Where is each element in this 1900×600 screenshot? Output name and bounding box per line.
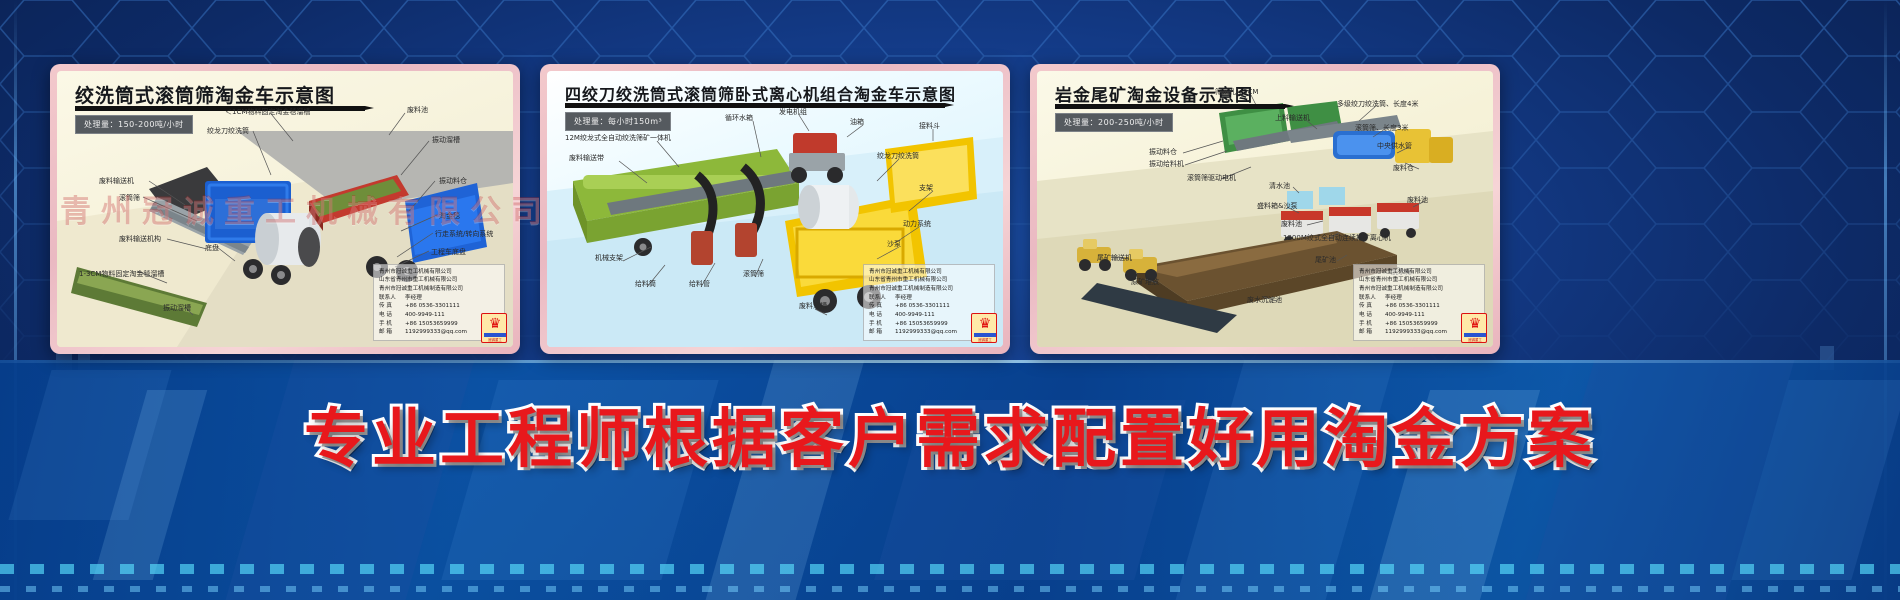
contact-tel: 400-9949-111: [405, 312, 445, 318]
panel-3-label: 废料仓: [1393, 163, 1414, 173]
contact-email: 1192999333@qq.com: [405, 329, 467, 335]
panel-2-label: 给料筒: [635, 279, 656, 289]
panel-2-label: 绞龙刀绞洗筒: [877, 151, 919, 161]
panel-1-label: 淘金毯: [439, 211, 460, 221]
panel-2-label: 动力系统: [903, 219, 931, 229]
panel-2-label: 支架: [919, 183, 933, 193]
panel-1-label: 废料输送机构: [119, 234, 161, 244]
contact-tel: 400-9949-111: [1385, 312, 1425, 318]
tick-strip-2: [0, 586, 1900, 592]
contact-mobile: +86 15053659999: [405, 321, 458, 327]
panel-1-label: 滚筒筛: [119, 193, 140, 203]
panel-2-rule: [565, 103, 945, 108]
panel-3-label: 废水沉淀池: [1247, 295, 1282, 305]
panel-1-rule: [75, 106, 365, 111]
panel-1-label: 工程车底盘: [431, 247, 466, 257]
panel-2-label: 废料溜槽: [799, 301, 827, 311]
panel-3-capacity-badge: 处理量：200-250吨/小时: [1055, 113, 1173, 132]
contact-fax: +86 0536-3301111: [895, 303, 950, 309]
contact-person-label: 联系人: [379, 294, 405, 303]
panel-3-label: 多级绞刀绞洗筒、长度4米: [1337, 99, 1418, 109]
diagram-panel-2[interactable]: 四绞刀绞洗筒式滚筒筛卧式离心机组合淘金车示意图 处理量：每小时150m³ 发电机…: [540, 64, 1010, 354]
panel-2-label: 给料管: [689, 279, 710, 289]
contact-person: 李经理: [895, 295, 912, 301]
contact-company3: 青州市冠诚重工机械制造有限公司: [1359, 285, 1479, 294]
contact-mobile-label: 手 机: [869, 320, 895, 329]
band-divider: [0, 360, 1900, 363]
panel-2-label: 机械支架: [595, 253, 623, 263]
panel-2-label: 废料输送带: [569, 153, 604, 163]
panel-1-label: 振动溜槽: [432, 135, 460, 145]
company-seal-icon: ♛冠诚重工: [1461, 313, 1487, 343]
contact-company: 青州市冠诚重工机械有限公司: [1359, 268, 1479, 277]
panel-3-label: 原矿堆放: [1131, 277, 1159, 287]
panel-3-label: 筛网孔径3CM: [1215, 87, 1258, 97]
panel-2-label: 12M绞龙式全自动绞洗筛矿一体机: [565, 133, 671, 143]
contact-fax-label: 传 真: [1359, 302, 1385, 311]
contact-email-label: 邮 箱: [379, 328, 405, 337]
contact-email-label: 邮 箱: [1359, 328, 1385, 337]
panel-3-label: 清水池: [1269, 181, 1290, 191]
promo-headline: 专业工程师根据客户需求配置好用淘金方案: [0, 388, 1900, 480]
panel-3-label: 上料输送机: [1275, 113, 1310, 123]
panel-2-label: 循环水箱: [725, 113, 753, 123]
panel-2-label: 发电机组: [779, 107, 807, 117]
panel-3-label: 振动给料机: [1149, 159, 1184, 169]
contact-tel-label: 电 话: [1359, 311, 1385, 320]
contact-person-label: 联系人: [1359, 294, 1385, 303]
contact-mobile-label: 手 机: [379, 320, 405, 329]
panel-2-label: 接料斗: [919, 121, 940, 131]
panel-3-label: 盛料箱&沙泵: [1257, 201, 1297, 211]
contact-company3: 青州市冠诚重工机械制造有限公司: [869, 285, 989, 294]
panel-3-label: 废料池: [1281, 219, 1302, 229]
contact-company3: 青州市冠诚重工机械制造有限公司: [379, 285, 499, 294]
contact-tel-label: 电 话: [869, 311, 895, 320]
panel-1-label: 1-3CM物料固定淘金毯溜槽: [79, 269, 164, 279]
panel-3-label: 废料池: [1407, 195, 1428, 205]
diagram-panel-1[interactable]: 绞洗筒式滚筒筛淘金车示意图 处理量：150-200吨/小时 ＜1CM物料固定淘金…: [50, 64, 520, 354]
panel-2-title: 四绞刀绞洗筒式滚筒筛卧式离心机组合淘金车示意图: [565, 81, 956, 105]
contact-company: 青州市冠诚重工机械有限公司: [379, 268, 499, 277]
panel-3-label: 中央供水管: [1377, 141, 1412, 151]
panel-2-label: 油箱: [850, 117, 864, 127]
contact-company: 青州市冠诚重工机械有限公司: [869, 268, 989, 277]
contact-person: 李经理: [1385, 295, 1402, 301]
contact-mobile: +86 15053659999: [895, 321, 948, 327]
contact-company2: 山东省青州市重工机械有限公司: [1359, 276, 1479, 285]
contact-tel: 400-9949-111: [895, 312, 935, 318]
panel-3-label: 滚筒筛驱动电机: [1187, 173, 1236, 183]
panel-1-label: ＜1CM物料固定淘金毯溜槽: [225, 107, 310, 117]
panel-3-label: 尾矿池: [1315, 255, 1336, 265]
contact-email: 1192999333@qq.com: [1385, 329, 1447, 335]
contact-person-label: 联系人: [869, 294, 895, 303]
panel-3-label: 尾矿输送机: [1097, 253, 1132, 263]
contact-tel-label: 电 话: [379, 311, 405, 320]
company-seal-icon: ♛冠诚重工: [971, 313, 997, 343]
contact-fax-label: 传 真: [379, 302, 405, 311]
panel-3-label: 滚筒筛、长度3米: [1355, 123, 1408, 133]
panel-2-label: 滚筒筛: [743, 269, 764, 279]
contact-person: 李经理: [405, 295, 422, 301]
panel-1-label: 绞龙刀绞洗筒: [207, 126, 249, 136]
diagram-panel-3[interactable]: 岩金尾矿淘金设备示意图 处理量：200-250吨/小时 筛网孔径3CM 多级绞刀…: [1030, 64, 1500, 354]
contact-company2: 山东省青州市重工机械有限公司: [379, 276, 499, 285]
panel-1-label: 振动溜槽: [163, 303, 191, 313]
panel-3-rule: [1055, 104, 1285, 109]
panel-2-label: 沙泵: [887, 239, 901, 249]
panel-1-label: 底盘: [205, 243, 219, 253]
contact-mobile-label: 手 机: [1359, 320, 1385, 329]
contact-fax-label: 传 真: [869, 302, 895, 311]
contact-mobile: +86 15053659999: [1385, 321, 1438, 327]
contact-email-label: 邮 箱: [869, 328, 895, 337]
panel-1-label: 废料池: [407, 105, 428, 115]
panel-1-title: 绞洗筒式滚筒筛淘金车示意图: [75, 81, 335, 108]
company-seal-icon: ♛冠诚重工: [481, 313, 507, 343]
contact-email: 1192999333@qq.com: [895, 329, 957, 335]
panel-1-label: 振动料仓: [439, 176, 467, 186]
contact-fax: +86 0536-3301111: [405, 303, 460, 309]
panel-1-capacity-badge: 处理量：150-200吨/小时: [75, 115, 193, 134]
tick-strip-1: [0, 564, 1900, 574]
panel-1-label: 行走系统/转向系统: [435, 229, 493, 239]
panel-1-label: 废料输送机: [99, 176, 134, 186]
panel-3-label: 1200M绞式全自动连续排矿离心机: [1283, 233, 1391, 243]
contact-fax: +86 0536-3301111: [1385, 303, 1440, 309]
panel-2-capacity-badge: 处理量：每小时150m³: [565, 112, 671, 131]
panel-3-label: 振动料仓: [1149, 147, 1177, 157]
contact-company2: 山东省青州市重工机械有限公司: [869, 276, 989, 285]
